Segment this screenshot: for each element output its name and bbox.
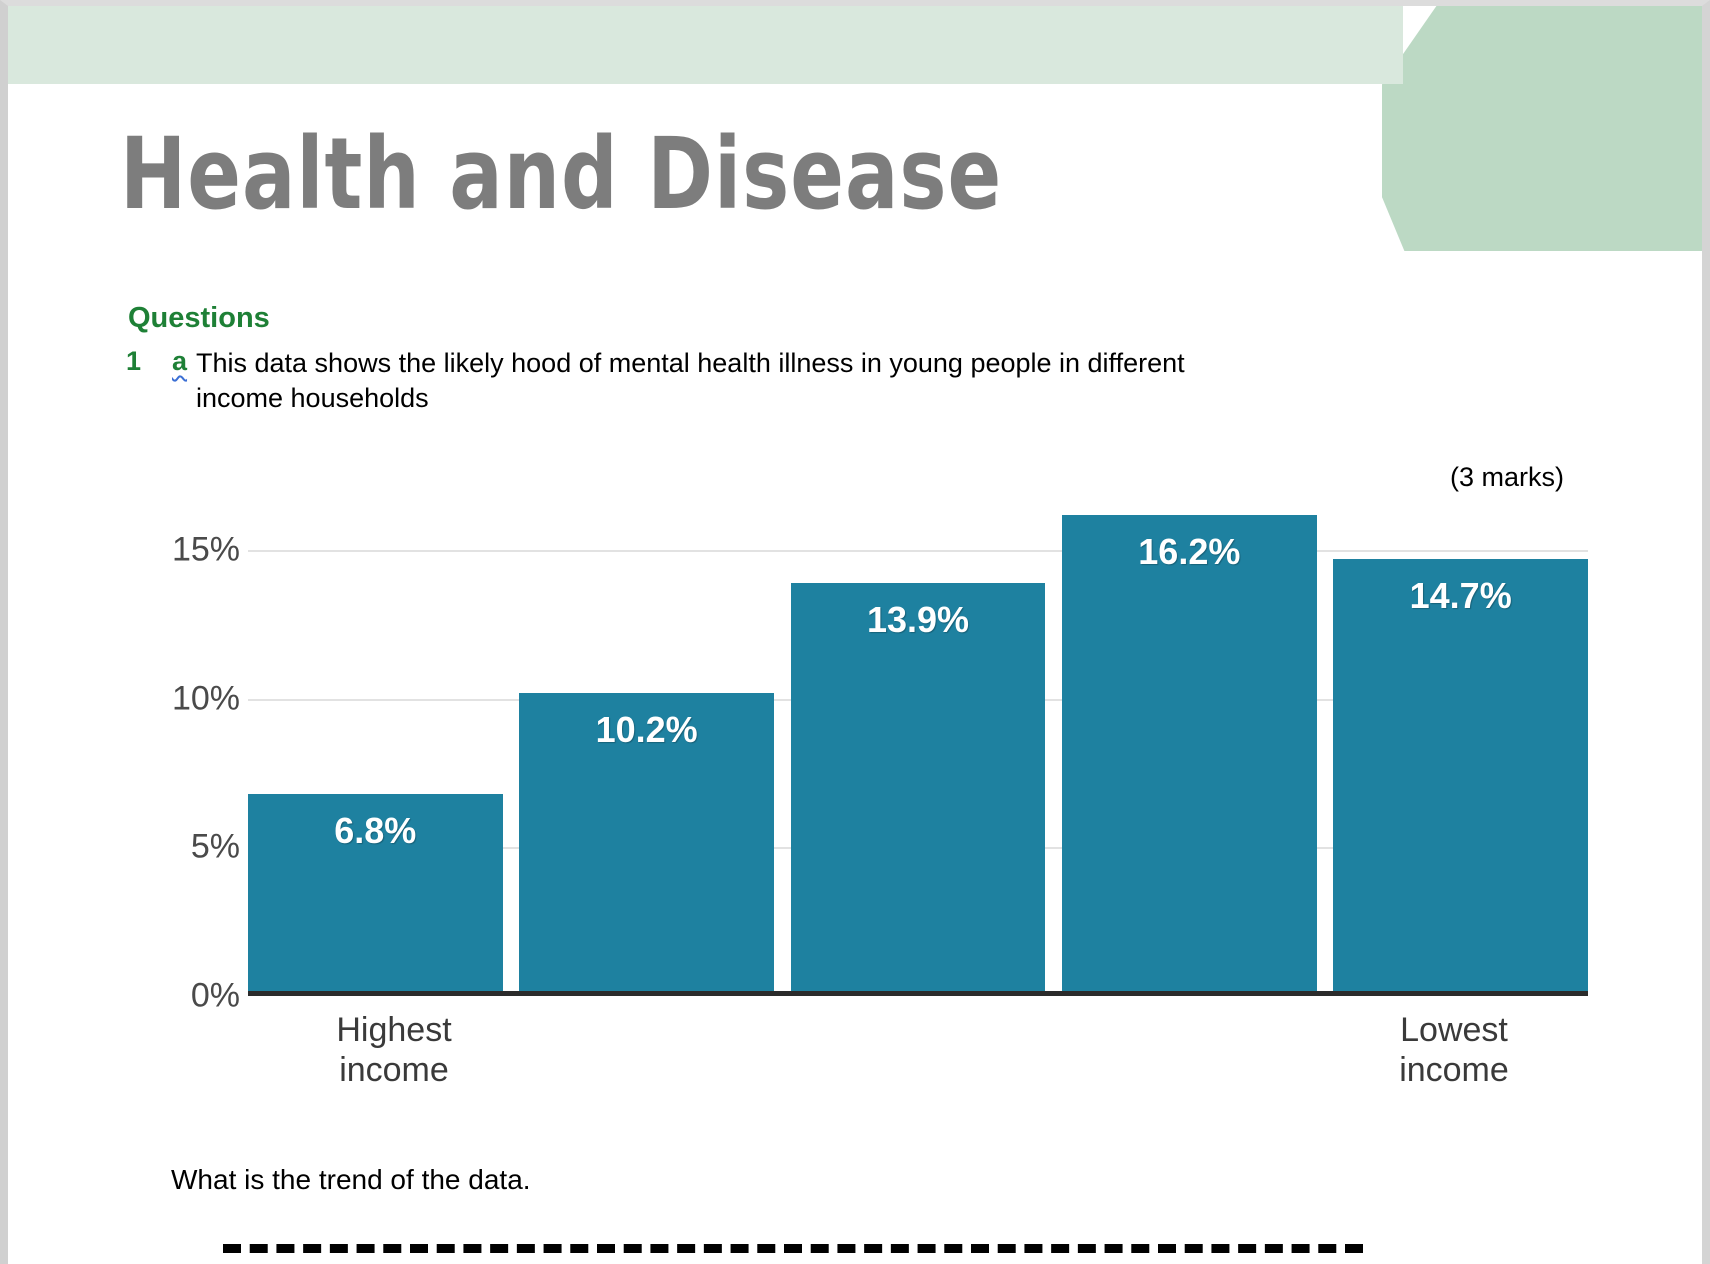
bar: 16.2%	[1062, 515, 1317, 996]
bar-value-label: 14.7%	[1333, 575, 1588, 617]
bar-value-label: 10.2%	[519, 709, 774, 751]
bar: 6.8%	[248, 794, 503, 996]
answer-line[interactable]	[223, 1244, 1363, 1253]
x-axis-label-highest-line2: income	[264, 1050, 524, 1090]
question-text: This data shows the likely hood of menta…	[196, 346, 1276, 415]
x-axis-label-lowest-line1: Lowest	[1324, 1010, 1584, 1050]
bar: 10.2%	[519, 693, 774, 996]
chart-bars: 6.8%10.2%13.9%16.2%14.7%	[248, 476, 1588, 996]
y-tick-label: 0%	[191, 977, 240, 1016]
x-axis-label-highest: Highest income	[264, 1010, 524, 1090]
header-band	[8, 6, 1403, 84]
y-tick-label: 10%	[172, 679, 240, 718]
question-letter: a	[172, 346, 187, 377]
x-axis-label-highest-line1: Highest	[264, 1010, 524, 1050]
bar-cell: 6.8%	[248, 476, 503, 996]
chart-plot-area: 0%5%10%15% 6.8%10.2%13.9%16.2%14.7%	[248, 476, 1588, 996]
y-tick-label: 5%	[191, 828, 240, 867]
bar: 13.9%	[791, 583, 1046, 996]
bar-cell: 13.9%	[791, 476, 1046, 996]
bar-value-label: 16.2%	[1062, 531, 1317, 573]
bar-cell: 14.7%	[1333, 476, 1588, 996]
header-accent-shape	[1382, 6, 1702, 251]
question-number: 1	[126, 346, 141, 377]
bar-chart: 0%5%10%15% 6.8%10.2%13.9%16.2%14.7% High…	[128, 476, 1588, 1036]
bar-value-label: 6.8%	[248, 810, 503, 852]
trend-question-text: What is the trend of the data.	[171, 1164, 531, 1196]
x-axis-label-lowest: Lowest income	[1324, 1010, 1584, 1090]
bar: 14.7%	[1333, 559, 1588, 996]
x-axis-label-lowest-line2: income	[1324, 1050, 1584, 1090]
bar-cell: 10.2%	[519, 476, 774, 996]
worksheet-page: Health and Disease Questions 1 a This da…	[0, 0, 1710, 1264]
y-tick-label: 15%	[172, 531, 240, 570]
bar-value-label: 13.9%	[791, 599, 1046, 641]
chart-baseline	[248, 991, 1588, 996]
page-title: Health and Disease	[120, 125, 1002, 224]
questions-heading: Questions	[128, 302, 270, 335]
bar-cell: 16.2%	[1062, 476, 1317, 996]
